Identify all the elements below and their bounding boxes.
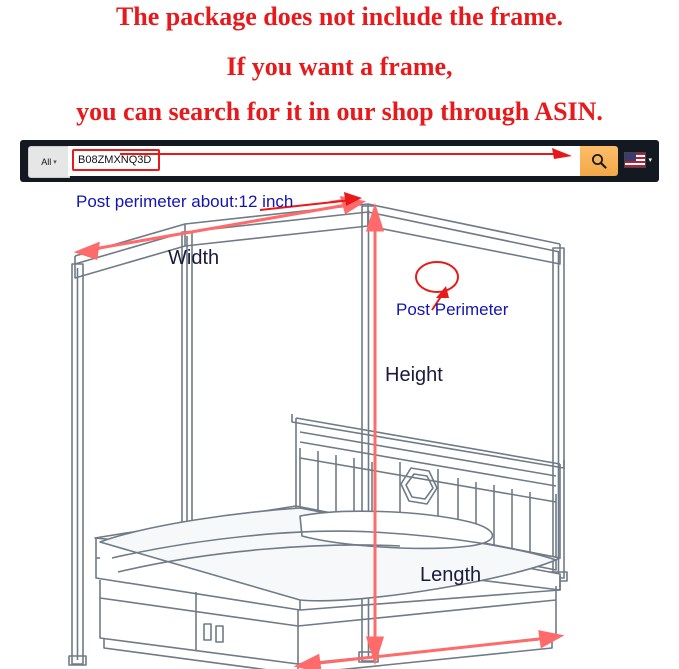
search-input-value: B08ZMXNQ3D	[72, 149, 160, 171]
canopy-bed-diagram	[0, 186, 679, 669]
us-flag-icon	[624, 152, 646, 168]
search-icon	[591, 153, 607, 169]
chevron-down-icon: ▾	[53, 158, 57, 166]
amazon-search-bar[interactable]: All ▾ B08ZMXNQ3D ▾	[20, 140, 659, 182]
label-post-perimeter-top: Post perimeter about:12 inch	[76, 192, 293, 212]
bed-line-drawing	[0, 186, 679, 669]
search-input[interactable]: B08ZMXNQ3D	[68, 146, 580, 176]
locale-selector[interactable]: ▾	[624, 149, 652, 171]
headline-line-2: If you want a frame,	[0, 52, 679, 82]
chevron-down-icon: ▾	[648, 156, 652, 164]
label-width: Width	[168, 247, 219, 270]
label-length: Length	[420, 564, 481, 587]
headline-line-3: you can search for it in our shop throug…	[0, 97, 679, 127]
headline-line-1: The package does not include the frame.	[0, 2, 679, 32]
search-submit-button[interactable]	[580, 146, 618, 176]
search-category-label: All	[41, 157, 51, 167]
search-category-dropdown[interactable]: All ▾	[28, 146, 70, 178]
label-post-perimeter: Post Perimeter	[396, 300, 508, 320]
label-height: Height	[385, 364, 443, 387]
